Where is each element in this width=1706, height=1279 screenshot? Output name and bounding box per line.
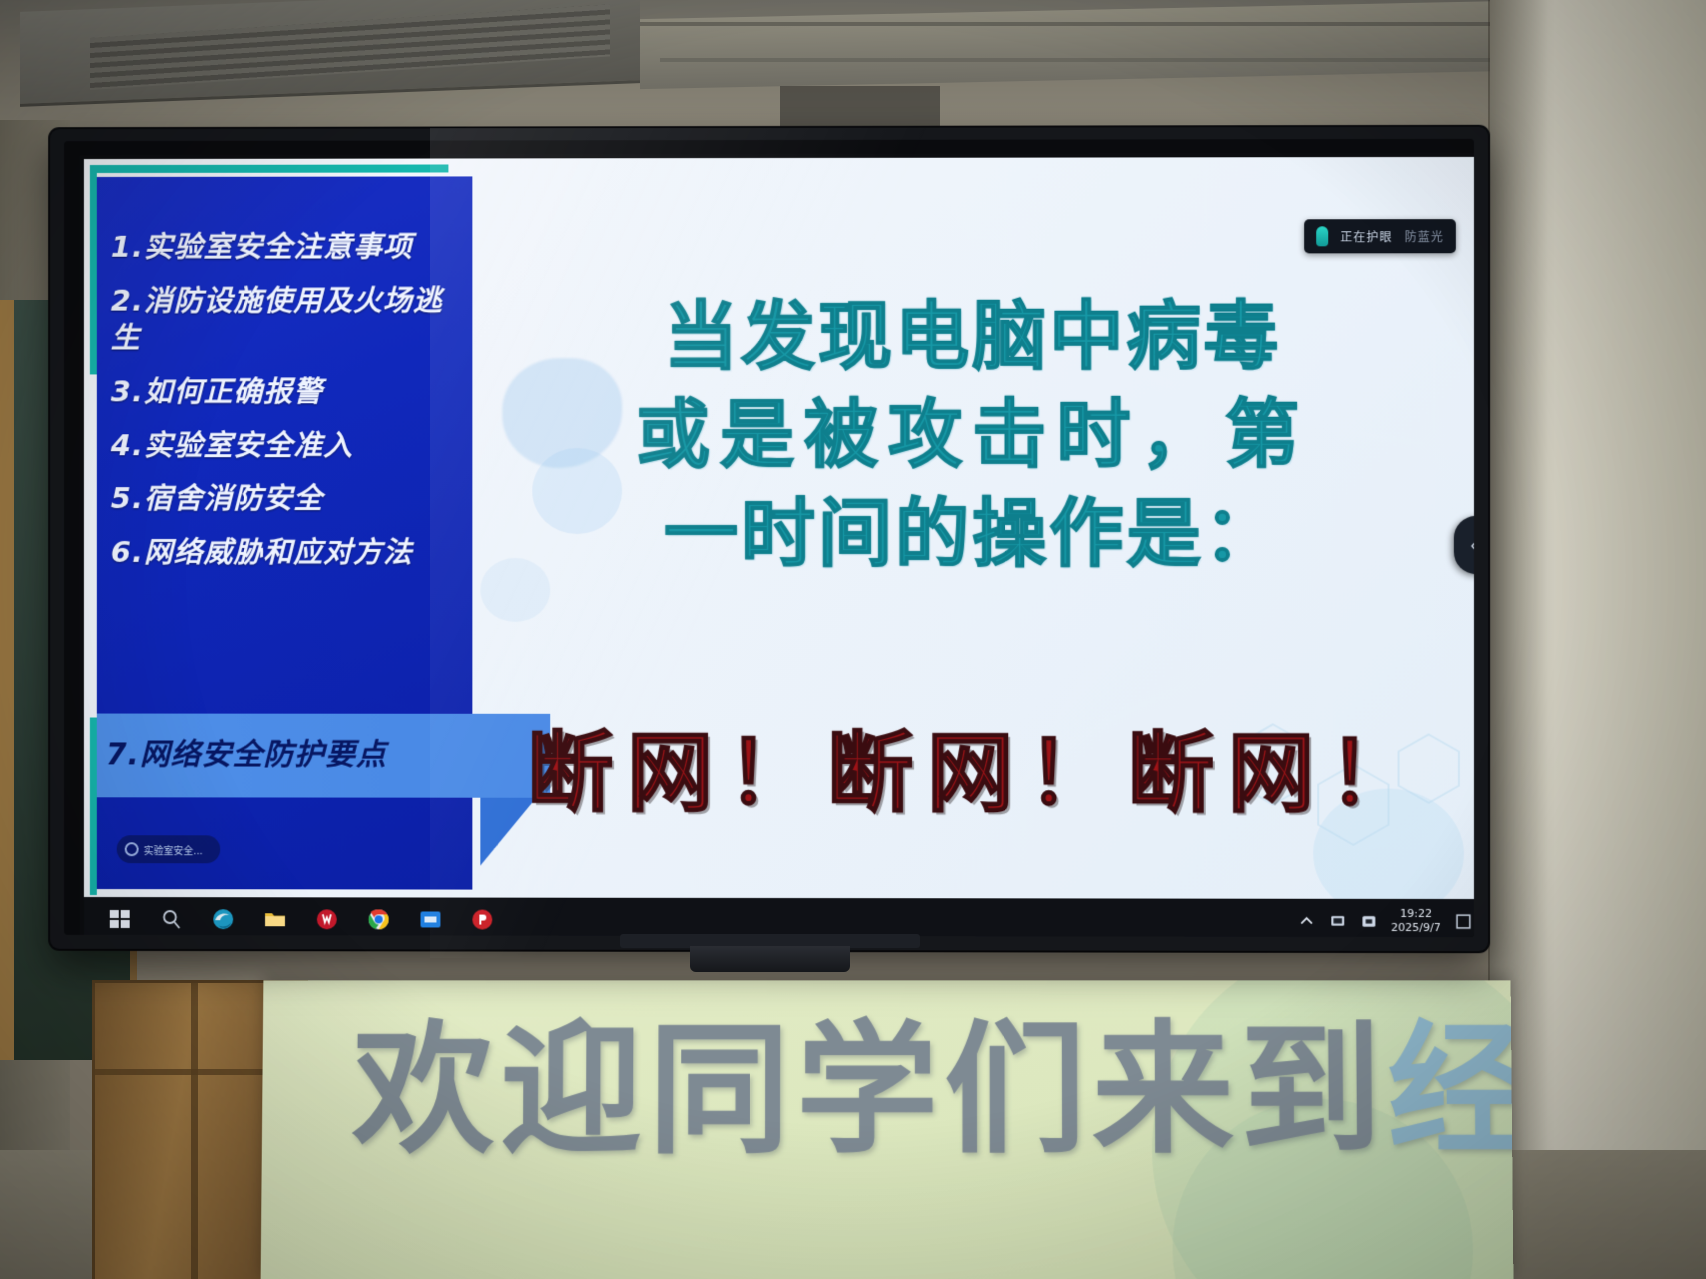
taskbar-file-explorer-button[interactable] — [249, 898, 301, 937]
windows-taskbar[interactable]: 19:22 2025/9/7 — [84, 897, 1474, 937]
ceiling-vent — [20, 0, 640, 107]
volume-icon — [1360, 912, 1377, 929]
search-icon — [160, 907, 184, 931]
agenda-item-3-num: 3. — [111, 374, 144, 408]
chalkboard-frame — [0, 300, 14, 1060]
pdf-icon — [470, 908, 494, 932]
agenda-item-2[interactable]: 2.消防设施使用及火场逃生 — [97, 282, 468, 358]
agenda-item-4[interactable]: 4.实验室安全准入 — [97, 427, 473, 465]
slide-emphasis-text: 断网！断网！断网！ — [502, 703, 1454, 829]
slide-footer-chip[interactable]: 实验室安全... — [117, 835, 220, 863]
headline-line-3: 一时间的操作是： — [507, 485, 1438, 584]
taskbar-pinned-apps — [84, 898, 508, 937]
tray-overflow-button[interactable] — [1298, 912, 1315, 929]
vent-grill — [90, 4, 610, 90]
clock-time: 19:22 — [1391, 907, 1441, 921]
agenda-item-1[interactable]: 1.实验室安全注意事项 — [97, 228, 473, 266]
agenda-item-3[interactable]: 3.如何正确报警 — [97, 373, 473, 411]
agenda-item-7-label: 网络安全防护要点 — [140, 737, 387, 772]
chip-label: 实验室安全... — [144, 842, 203, 857]
taskbar-running-indicator — [466, 936, 498, 938]
agenda-item-2-num: 2. — [111, 283, 144, 317]
headline-line-1: 当发现电脑中病毒 — [507, 287, 1438, 386]
network-icon — [1329, 912, 1346, 929]
photo-scene: 欢迎同学们来到经管 — [0, 0, 1706, 1279]
taskbar-start-button[interactable] — [94, 898, 146, 937]
welcome-banner: 欢迎同学们来到经管 — [261, 980, 1514, 1279]
display-bezel: 1.实验室安全注意事项 2.消防设施使用及火场逃生 3.如何正确报警 4.实验室… — [64, 139, 1474, 937]
slide-headline: 当发现电脑中病毒 或是被攻击时，第 一时间的操作是： — [507, 287, 1438, 583]
show-desktop-icon — [1455, 913, 1472, 930]
taskbar-search-button[interactable] — [146, 898, 198, 937]
wps-icon — [315, 907, 339, 931]
collapse-panel-button[interactable]: « — [1454, 516, 1474, 574]
taskbar-store-button[interactable] — [405, 898, 457, 937]
eye-care-status: 正在护眼 — [1340, 228, 1392, 245]
store-icon — [419, 907, 443, 931]
slide-accent-left-top — [90, 165, 97, 374]
taskbar-wps-button[interactable] — [301, 898, 353, 937]
slide-accent-top — [90, 164, 449, 173]
eye-care-secondary: 防蓝光 — [1405, 228, 1444, 245]
ceiling — [0, 0, 1706, 132]
eye-care-toolbar[interactable]: 正在护眼 防蓝光 — [1304, 219, 1456, 253]
headline-line-2: 或是被攻击时，第 — [507, 386, 1438, 485]
agenda-item-7[interactable]: 7.网络安全防护要点 — [106, 729, 387, 773]
tray-network-button[interactable] — [1329, 912, 1346, 929]
wall-display: 1.实验室安全注意事项 2.消防设施使用及火场逃生 3.如何正确报警 4.实验室… — [50, 127, 1488, 951]
banner-text: 欢迎同学们来到经管 — [352, 1000, 1514, 1182]
display-screen[interactable]: 1.实验室安全注意事项 2.消防设施使用及火场逃生 3.如何正确报警 4.实验室… — [80, 153, 1474, 937]
tray-volume-button[interactable] — [1360, 912, 1377, 929]
taskbar-edge-button[interactable] — [197, 898, 249, 937]
agenda-list: 1.实验室安全注意事项 2.消防设施使用及火场逃生 3.如何正确报警 4.实验室… — [97, 228, 473, 587]
agenda-item-1-label: 实验室安全注意事项 — [144, 229, 413, 263]
taskbar-system-tray: 19:22 2025/9/7 — [1298, 907, 1474, 935]
banner-text-main: 欢迎同学们来到 — [352, 1008, 1389, 1173]
slide-accent-left-bottom — [90, 718, 97, 896]
agenda-item-4-num: 4. — [111, 428, 144, 462]
display-stand — [690, 946, 850, 972]
edge-icon — [211, 907, 235, 931]
eye-care-icon — [1316, 226, 1328, 246]
taskbar-running-indicator — [311, 935, 343, 937]
taskbar-running-indicator — [363, 935, 395, 937]
chevron-up-icon — [1298, 912, 1315, 929]
show-desktop-button[interactable] — [1455, 913, 1472, 930]
clock-date: 2025/9/7 — [1391, 921, 1441, 935]
projector-mount — [780, 86, 940, 132]
cabinet-seam — [191, 983, 198, 1279]
windows-start-icon — [108, 907, 132, 931]
taskbar-running-indicator — [415, 935, 447, 937]
agenda-item-2-label: 消防设施使用及火场逃生 — [111, 283, 443, 355]
agenda-item-6[interactable]: 6.网络威胁和应对方法 — [97, 534, 473, 572]
agenda-item-6-label: 网络威胁和应对方法 — [144, 535, 413, 569]
agenda-item-1-num: 1. — [111, 230, 144, 264]
agenda-item-5[interactable]: 5.宿舍消防安全 — [97, 481, 473, 519]
banner-text-accent: 经管 — [1387, 1008, 1513, 1173]
taskbar-clock[interactable]: 19:22 2025/9/7 — [1391, 907, 1441, 935]
taskbar-running-indicator — [259, 935, 291, 937]
agenda-item-7-num: 7. — [106, 737, 140, 772]
chip-circle-icon — [125, 842, 139, 856]
agenda-item-5-num: 5. — [111, 482, 144, 516]
agenda-item-3-label: 如何正确报警 — [144, 374, 323, 408]
agenda-item-5-label: 宿舍消防安全 — [144, 482, 323, 516]
folder-icon — [263, 907, 287, 931]
taskbar-chrome-button[interactable] — [353, 898, 405, 937]
presentation-slide[interactable]: 1.实验室安全注意事项 2.消防设施使用及火场逃生 3.如何正确报警 4.实验室… — [84, 157, 1474, 899]
taskbar-pdf-button[interactable] — [456, 899, 508, 938]
agenda-item-6-num: 6. — [111, 535, 144, 569]
chrome-icon — [367, 907, 391, 931]
agenda-item-4-label: 实验室安全准入 — [144, 428, 353, 462]
